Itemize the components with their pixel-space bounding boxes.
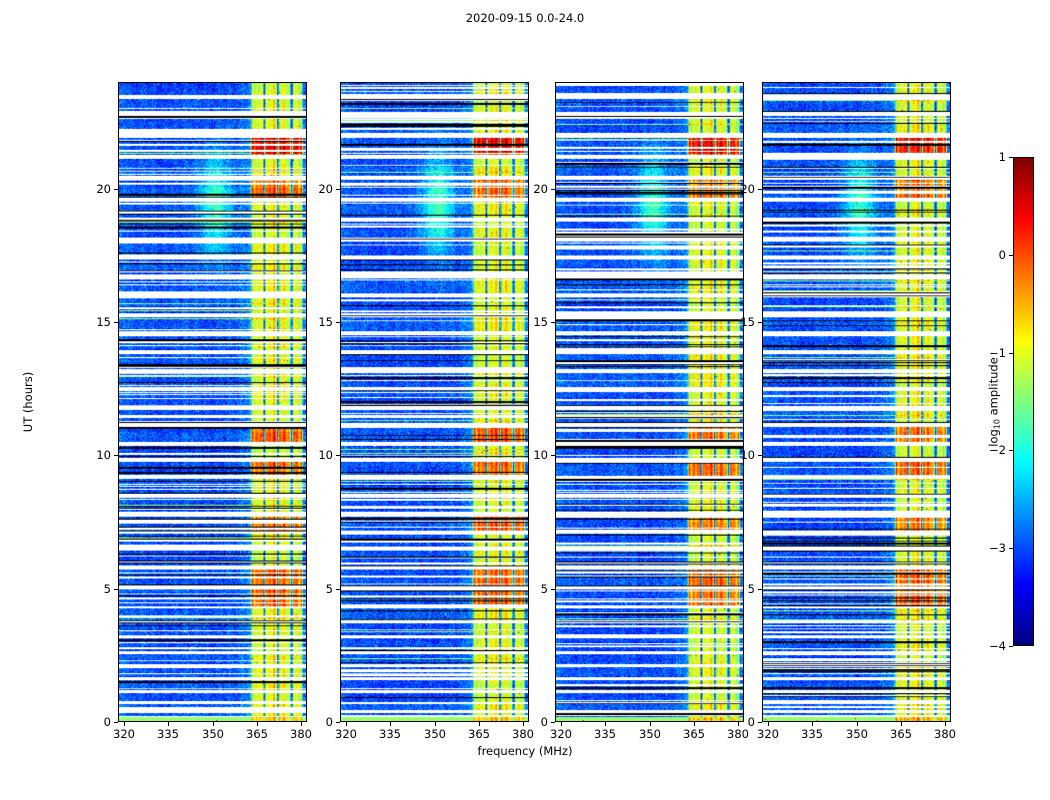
- x-tick-mark: [213, 722, 214, 726]
- y-tick-label: 20: [96, 182, 111, 196]
- colorbar-label-prefix: log: [987, 429, 1001, 447]
- x-tick-mark: [435, 722, 436, 726]
- y-tick-mark: [758, 722, 762, 723]
- y-tick-label: 5: [541, 582, 548, 596]
- colorbar-tick-mark: [1009, 450, 1013, 451]
- y-tick-label: 5: [748, 582, 755, 596]
- y-tick-label: 10: [533, 448, 548, 462]
- x-tick-mark: [390, 722, 391, 726]
- y-tick-mark: [551, 722, 555, 723]
- x-tick-mark: [605, 722, 606, 726]
- x-tick-mark: [346, 722, 347, 726]
- x-tick-label: 335: [801, 727, 823, 741]
- y-tick-mark: [114, 589, 118, 590]
- x-tick-label: 320: [757, 727, 779, 741]
- y-tick-label: 15: [533, 315, 548, 329]
- y-tick-label: 20: [533, 182, 548, 196]
- x-tick-label: 365: [468, 727, 490, 741]
- colorbar-label-suffix: amplitude: [987, 357, 1001, 419]
- x-tick-label: 335: [157, 727, 179, 741]
- y-tick-label: 0: [541, 715, 548, 729]
- colorbar-tick-label: −3: [989, 541, 1006, 555]
- x-tick-mark: [945, 722, 946, 726]
- colorbar-tick-label: 0: [999, 248, 1006, 262]
- panel-xy[interactable]: XY, V1*V16=EA02*EA06: [555, 82, 744, 722]
- waterfall-image-xy: [556, 83, 743, 721]
- figure-canvas: 2020-09-15 0.0-24.0 XX, V1*V16=EA02*EA06…: [0, 0, 1050, 800]
- x-tick-label: 380: [727, 727, 749, 741]
- x-tick-mark: [738, 722, 739, 726]
- y-tick-mark: [114, 189, 118, 190]
- waterfall-image-yx: [763, 83, 950, 721]
- x-tick-label: 320: [335, 727, 357, 741]
- x-tick-label: 380: [290, 727, 312, 741]
- x-tick-label: 335: [594, 727, 616, 741]
- y-tick-mark: [114, 722, 118, 723]
- y-tick-mark: [114, 322, 118, 323]
- x-axis-label: frequency (MHz): [0, 744, 1050, 758]
- y-tick-label: 20: [318, 182, 333, 196]
- x-tick-label: 365: [890, 727, 912, 741]
- x-tick-mark: [124, 722, 125, 726]
- x-tick-mark: [479, 722, 480, 726]
- y-tick-mark: [758, 189, 762, 190]
- colorbar-tick-mark: [1009, 353, 1013, 354]
- y-tick-mark: [758, 455, 762, 456]
- x-tick-label: 320: [550, 727, 572, 741]
- x-tick-label: 365: [683, 727, 705, 741]
- colorbar-label: log10 amplitude: [987, 357, 1002, 447]
- y-tick-label: 15: [96, 315, 111, 329]
- colorbar-tick-mark: [1009, 255, 1013, 256]
- y-tick-label: 5: [104, 582, 111, 596]
- y-tick-label: 10: [740, 448, 755, 462]
- x-tick-label: 350: [639, 727, 661, 741]
- x-tick-label: 350: [846, 727, 868, 741]
- x-tick-label: 320: [113, 727, 135, 741]
- colorbar-tick-label: 1: [999, 150, 1006, 164]
- figure-suptitle: 2020-09-15 0.0-24.0: [0, 11, 1050, 25]
- y-tick-mark: [551, 189, 555, 190]
- panel-xx[interactable]: XX, V1*V16=EA02*EA06: [118, 82, 307, 722]
- colorbar-tick-mark: [1009, 157, 1013, 158]
- y-tick-mark: [336, 722, 340, 723]
- colorbar[interactable]: [1013, 157, 1034, 646]
- x-tick-label: 365: [246, 727, 268, 741]
- x-tick-mark: [168, 722, 169, 726]
- y-tick-label: 0: [104, 715, 111, 729]
- x-tick-label: 350: [202, 727, 224, 741]
- x-tick-mark: [650, 722, 651, 726]
- y-tick-mark: [336, 589, 340, 590]
- y-axis-label: UT (hours): [21, 372, 35, 432]
- waterfall-image-yy: [341, 83, 528, 721]
- colorbar-tick-label: −4: [989, 639, 1006, 653]
- y-tick-mark: [758, 589, 762, 590]
- y-tick-label: 10: [96, 448, 111, 462]
- y-tick-mark: [758, 322, 762, 323]
- y-tick-mark: [551, 322, 555, 323]
- waterfall-image-xx: [119, 83, 306, 721]
- x-tick-mark: [523, 722, 524, 726]
- x-tick-mark: [694, 722, 695, 726]
- y-tick-label: 5: [326, 582, 333, 596]
- x-tick-mark: [257, 722, 258, 726]
- x-tick-label: 380: [512, 727, 534, 741]
- x-tick-mark: [301, 722, 302, 726]
- y-tick-mark: [114, 455, 118, 456]
- colorbar-label-sub: 10: [993, 419, 1002, 429]
- x-tick-label: 350: [424, 727, 446, 741]
- y-tick-mark: [336, 189, 340, 190]
- y-tick-label: 20: [740, 182, 755, 196]
- y-tick-label: 10: [318, 448, 333, 462]
- x-tick-mark: [561, 722, 562, 726]
- x-tick-label: 335: [379, 727, 401, 741]
- y-tick-label: 15: [740, 315, 755, 329]
- colorbar-tick-mark: [1009, 548, 1013, 549]
- y-tick-mark: [336, 322, 340, 323]
- panel-yx[interactable]: YX, V1*V16=EA02*EA06: [762, 82, 951, 722]
- x-tick-mark: [768, 722, 769, 726]
- y-tick-label: 0: [748, 715, 755, 729]
- y-tick-mark: [551, 455, 555, 456]
- y-tick-mark: [551, 589, 555, 590]
- x-tick-mark: [857, 722, 858, 726]
- colorbar-tick-mark: [1009, 646, 1013, 647]
- y-tick-mark: [336, 455, 340, 456]
- x-tick-mark: [901, 722, 902, 726]
- y-tick-label: 0: [326, 715, 333, 729]
- panel-yy[interactable]: YY, V1*V16=EA02*EA06: [340, 82, 529, 722]
- colorbar-gradient: [1014, 158, 1033, 645]
- y-tick-label: 15: [318, 315, 333, 329]
- x-tick-label: 380: [934, 727, 956, 741]
- x-tick-mark: [812, 722, 813, 726]
